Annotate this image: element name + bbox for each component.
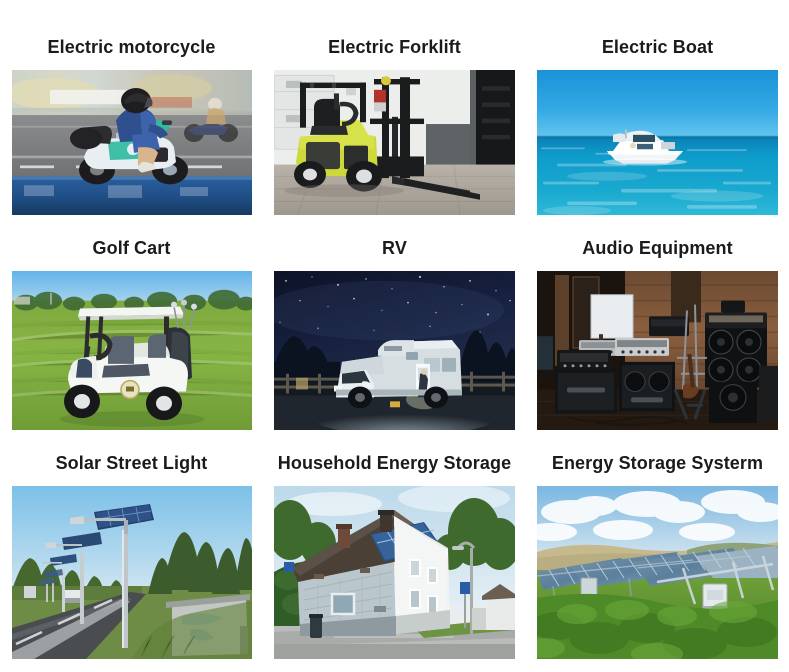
rv-photo[interactable]	[274, 271, 515, 430]
golf-cart-photo[interactable]	[12, 271, 252, 430]
card-electric-motorcycle[interactable]: Electric motorcycle	[0, 0, 263, 215]
electric-boat-photo[interactable]	[537, 70, 778, 215]
electric-forklift-photo[interactable]	[274, 70, 515, 215]
card-title: Electric Forklift	[328, 0, 461, 70]
card-energy-storage-system[interactable]: Energy Storage Systerm	[526, 430, 789, 672]
household-energy-storage-photo[interactable]	[274, 486, 515, 659]
card-title: Golf Cart	[93, 215, 171, 271]
card-rv[interactable]: RV	[263, 215, 526, 430]
solar-street-light-photo[interactable]	[12, 486, 252, 659]
card-household-energy-storage[interactable]: Household Energy Storage	[263, 430, 526, 672]
energy-storage-system-photo[interactable]	[537, 486, 778, 659]
card-title: Solar Street Light	[56, 430, 208, 486]
card-electric-boat[interactable]: Electric Boat	[526, 0, 789, 215]
card-title: Audio Equipment	[582, 215, 732, 271]
electric-motorcycle-photo[interactable]	[12, 70, 252, 215]
audio-equipment-photo[interactable]	[537, 271, 778, 430]
card-title: Energy Storage Systerm	[552, 430, 763, 486]
card-title: RV	[382, 215, 407, 271]
card-audio-equipment[interactable]: Audio Equipment	[526, 215, 789, 430]
application-scenarios-grid: Electric motorcycle	[0, 0, 789, 672]
card-title: Electric Boat	[602, 0, 713, 70]
card-title: Household Energy Storage	[278, 430, 511, 486]
card-solar-street-light[interactable]: Solar Street Light	[0, 430, 263, 672]
card-title: Electric motorcycle	[48, 0, 216, 70]
card-electric-forklift[interactable]: Electric Forklift	[263, 0, 526, 215]
card-golf-cart[interactable]: Golf Cart	[0, 215, 263, 430]
